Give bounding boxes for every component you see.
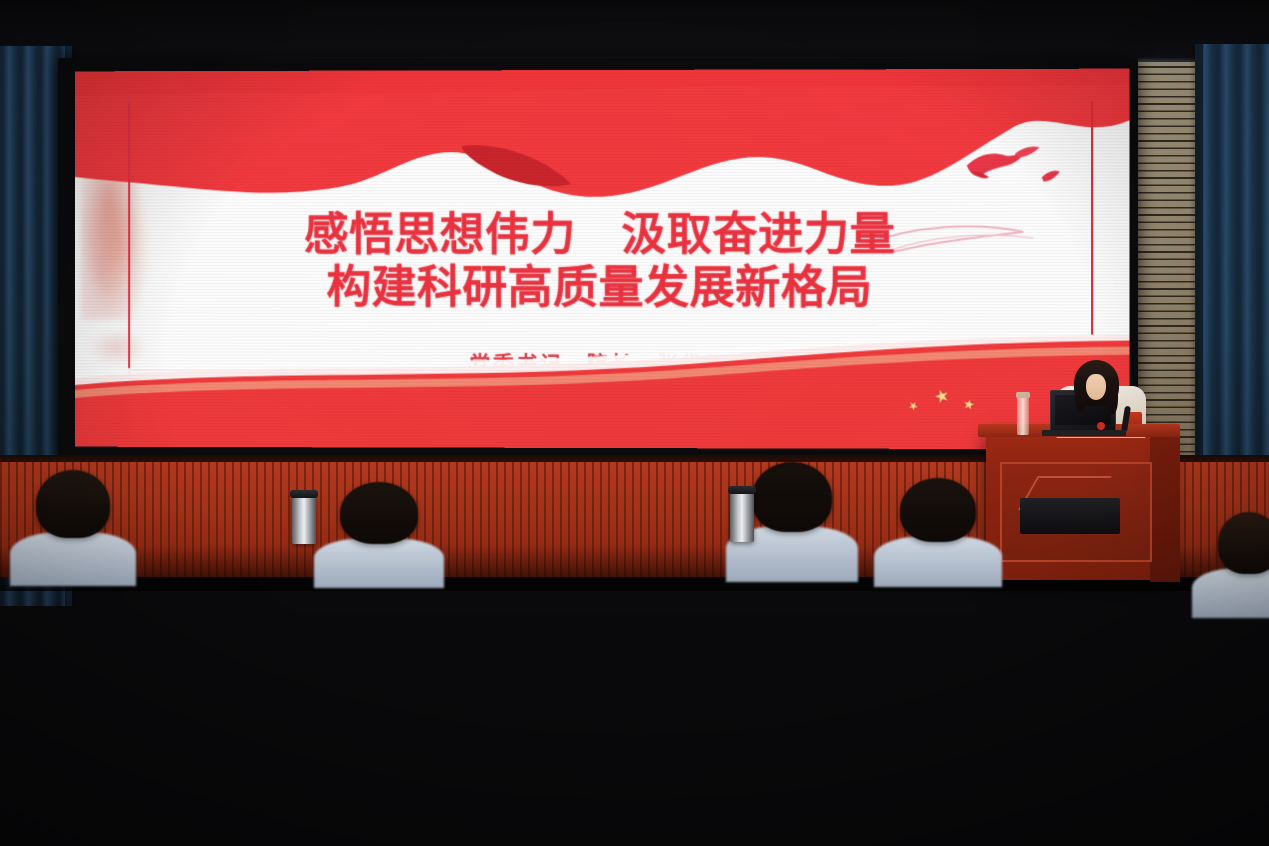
laptop-base bbox=[1042, 430, 1126, 436]
slide-title-line2: 构建科研高质量发展新格局 bbox=[75, 261, 1130, 315]
conference-hall-photo: 感悟思想伟力 汲取奋进力量 构建科研高质量发展新格局 党委书记、院长 张岱州 2… bbox=[0, 0, 1269, 846]
dove-icon-group bbox=[953, 131, 1084, 202]
slide-title: 感悟思想伟力 汲取奋进力量 构建科研高质量发展新格局 bbox=[75, 208, 1130, 315]
speaker-badge bbox=[1097, 422, 1105, 430]
red-bottom-band bbox=[75, 333, 1130, 449]
water-bottle bbox=[1017, 395, 1029, 435]
bottle-cap-icon bbox=[1016, 392, 1030, 398]
presentation-slide: 感悟思想伟力 汲取奋进力量 构建科研高质量发展新格局 党委书记、院长 张岱州 2… bbox=[75, 69, 1130, 450]
ceiling bbox=[0, 0, 1269, 62]
podium-side bbox=[1150, 430, 1180, 582]
star-icon: ★ bbox=[962, 398, 976, 413]
slide-title-line1: 感悟思想伟力 汲取奋进力量 bbox=[75, 208, 1130, 261]
confidence-monitor bbox=[1020, 498, 1120, 534]
speaker-face bbox=[1086, 374, 1106, 400]
led-screen-frame: 感悟思想伟力 汲取奋进力量 构建科研高质量发展新格局 党委书记、院长 张岱州 2… bbox=[58, 58, 1138, 458]
